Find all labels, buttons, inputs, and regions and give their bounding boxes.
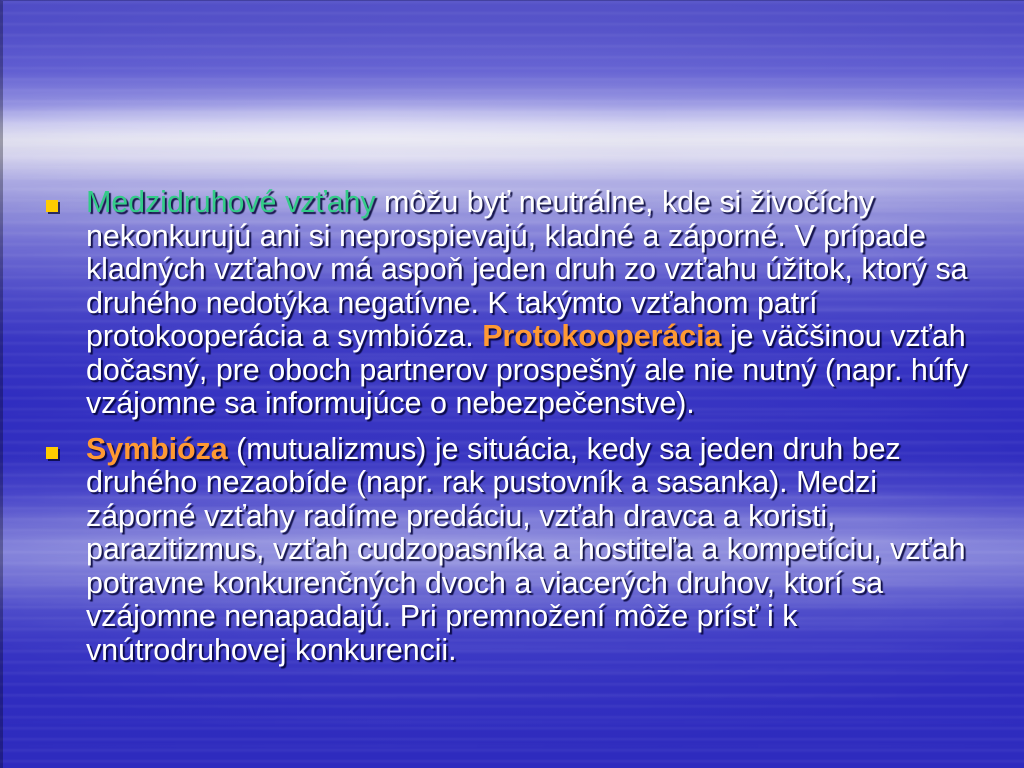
bullet-marker-cell: [40, 186, 86, 212]
list-item[interactable]: Symbióza (mutualizmus) je situácia, kedy…: [40, 433, 992, 668]
gold-square-bullet-icon: [46, 447, 58, 459]
emphasised-term: Symbióza: [86, 432, 228, 466]
list-item[interactable]: Medzidruhové vzťahy môžu byť neutrálne, …: [40, 186, 992, 421]
gold-square-bullet-icon: [46, 200, 58, 212]
bullet-marker-cell: [40, 433, 86, 459]
bullet-paragraph: Symbióza (mutualizmus) je situácia, kedy…: [86, 433, 992, 668]
body-text-placeholder[interactable]: Medzidruhové vzťahy môžu byť neutrálne, …: [40, 186, 992, 679]
bullet-paragraph: Medzidruhové vzťahy môžu byť neutrálne, …: [86, 186, 992, 421]
body-run: (mutualizmus) je situácia, kedy sa jeden…: [86, 432, 966, 667]
presentation-slide: Medzidruhové vzťahy môžu byť neutrálne, …: [0, 0, 1024, 768]
emphasised-term: Medzidruhové vzťahy: [86, 185, 375, 219]
emphasised-term: Protokooperácia: [482, 319, 721, 353]
